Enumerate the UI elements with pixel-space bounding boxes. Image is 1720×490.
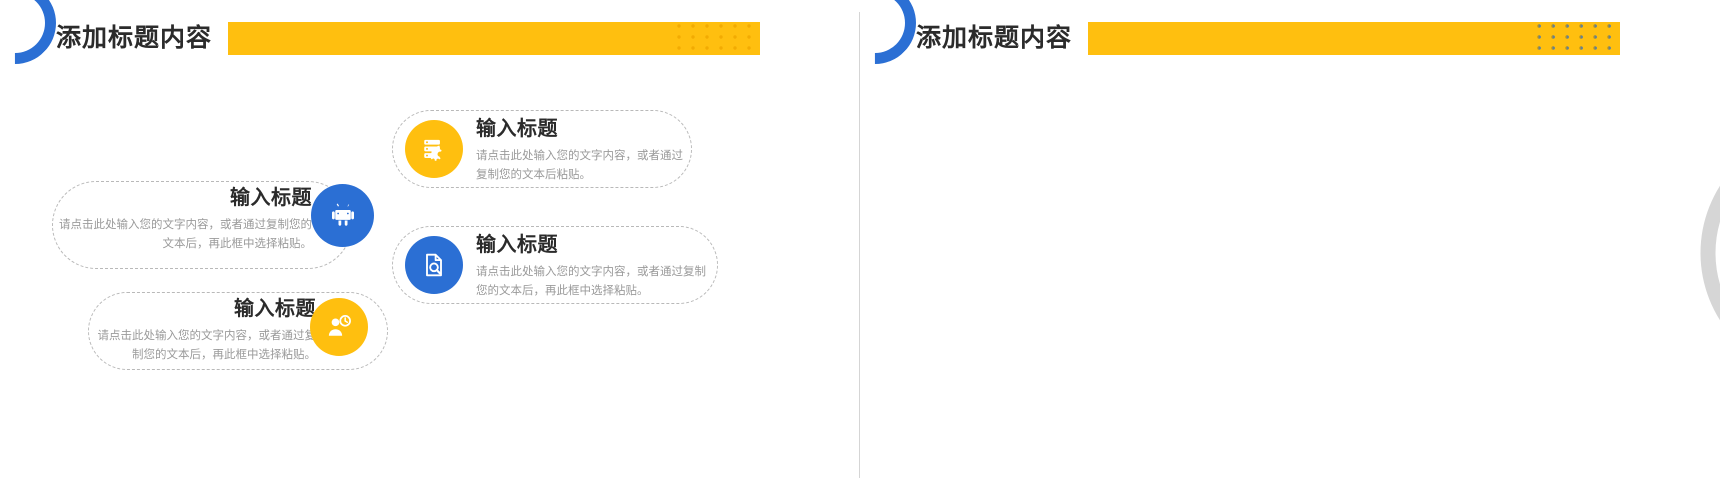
server-gear-icon[interactable] [405,120,463,178]
document-search-glyph [420,251,448,279]
page-title: 添加标题内容 [916,18,1072,54]
item-3-text: 输入标题 请点击此处输入您的文字内容，或者通过复制您的文本后粘贴。 [476,117,684,185]
item-1-text: 输入标题 请点击此处输入您的文字内容，或者通过复制您的文本后，再此框中选择粘贴。 [58,186,312,254]
item-4-title: 输入标题 [476,233,710,258]
slide-left: 添加标题内容 输入标题 请点击此处输入您的文字内容，或者通过复制您的文本后，再此… [0,0,860,490]
concentric-rings-chart [1678,105,1720,405]
android-robot-icon[interactable] [311,184,374,247]
item-2-body: 请点击此处输入您的文字内容，或者通过复制您的文本后，再此框中选择粘贴。 [94,327,316,365]
document-search-icon[interactable] [405,236,463,294]
item-2-text: 输入标题 请点击此处输入您的文字内容，或者通过复制您的文本后，再此框中选择粘贴。 [94,297,316,365]
item-1-title: 输入标题 [58,186,312,211]
ring-1-track [1708,135,1720,371]
item-3-title: 输入标题 [476,117,684,142]
page-title: 添加标题内容 [56,18,212,54]
item-4-text: 输入标题 请点击此处输入您的文字内容，或者通过复制您的文本后，再此框中选择粘贴。 [476,233,710,301]
server-gear-glyph [420,135,449,164]
user-clock-glyph [325,313,353,341]
item-4-body: 请点击此处输入您的文字内容，或者通过复制您的文本后，再此框中选择粘贴。 [476,263,710,301]
slide-right: 添加标题内容 [860,0,1720,490]
item-1-body: 请点击此处输入您的文字内容，或者通过复制您的文本后，再此框中选择粘贴。 [58,216,312,254]
dot-grid-pattern [1536,22,1620,55]
user-clock-icon[interactable] [310,298,368,356]
android-robot-glyph [328,201,358,231]
item-3-body: 请点击此处输入您的文字内容，或者通过复制您的文本后粘贴。 [476,147,684,185]
dot-grid-pattern [676,22,760,55]
item-2-title: 输入标题 [94,297,316,322]
